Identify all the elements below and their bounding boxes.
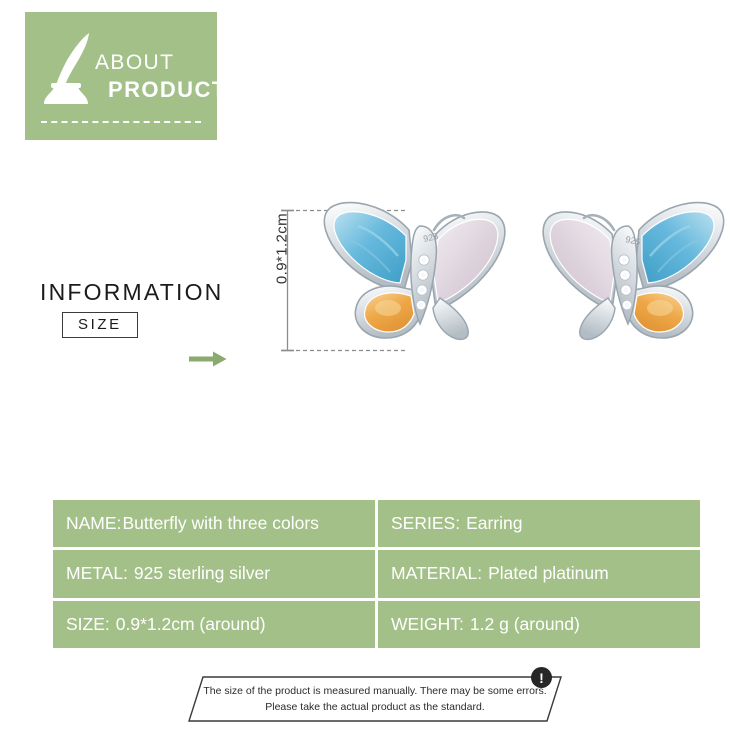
disclaimer-line-1: The size of the product is measured manu… xyxy=(203,684,546,698)
spec-key-material: MATERIAL: xyxy=(391,563,482,584)
banner-dashed-divider xyxy=(41,121,201,123)
banner-line-product: PRODUCT xyxy=(95,76,217,104)
spec-value-series: Earring xyxy=(460,513,522,534)
spec-key-weight: WEIGHT: xyxy=(391,614,464,635)
spec-value-size: 0.9*1.2cm (around) xyxy=(110,614,266,635)
exclamation-glyph: ! xyxy=(539,671,544,685)
spec-key-name: NAME: xyxy=(66,513,121,534)
spec-row-material: MATERIAL: Plated platinum xyxy=(378,550,700,597)
spec-row-size: SIZE: 0.9*1.2cm (around) xyxy=(53,601,375,648)
product-photo: 925 xyxy=(300,190,730,370)
measurement-value-label: 0.9*1.2cm xyxy=(274,194,291,304)
spec-key-metal: METAL: xyxy=(66,563,128,584)
quill-inkwell-icon xyxy=(39,30,101,108)
butterfly-earring-left[interactable]: 925 xyxy=(316,190,516,360)
exclamation-icon: ! xyxy=(531,667,552,688)
disclaimer-note: The size of the product is measured manu… xyxy=(188,676,562,722)
spec-key-size: SIZE: xyxy=(66,614,110,635)
about-product-banner: ABOUT PRODUCT xyxy=(25,12,217,140)
spec-row-name: NAME: Butterfly with three colors xyxy=(53,500,375,547)
spec-row-weight: WEIGHT: 1.2 g (around) xyxy=(378,601,700,648)
banner-heading: ABOUT PRODUCT xyxy=(95,50,217,104)
information-title: INFORMATION xyxy=(40,279,223,306)
spec-row-series: SERIES: Earring xyxy=(378,500,700,547)
arrow-right-icon xyxy=(189,351,227,367)
disclaimer-line-2: Please take the actual product as the st… xyxy=(265,700,484,714)
butterfly-earring-right[interactable]: 925 xyxy=(532,190,732,360)
spec-value-material: Plated platinum xyxy=(482,563,609,584)
spec-row-metal: METAL: 925 sterling silver xyxy=(53,550,375,597)
spec-value-weight: 1.2 g (around) xyxy=(464,614,580,635)
spec-key-series: SERIES: xyxy=(391,513,460,534)
disclaimer-text-block: The size of the product is measured manu… xyxy=(188,676,562,722)
specification-table: NAME: Butterfly with three colors SERIES… xyxy=(53,500,697,648)
size-chip-label: SIZE xyxy=(62,312,138,338)
spec-value-name: Butterfly with three colors xyxy=(121,513,318,534)
banner-line-about: ABOUT xyxy=(95,50,217,76)
spec-value-metal: 925 sterling silver xyxy=(128,563,270,584)
